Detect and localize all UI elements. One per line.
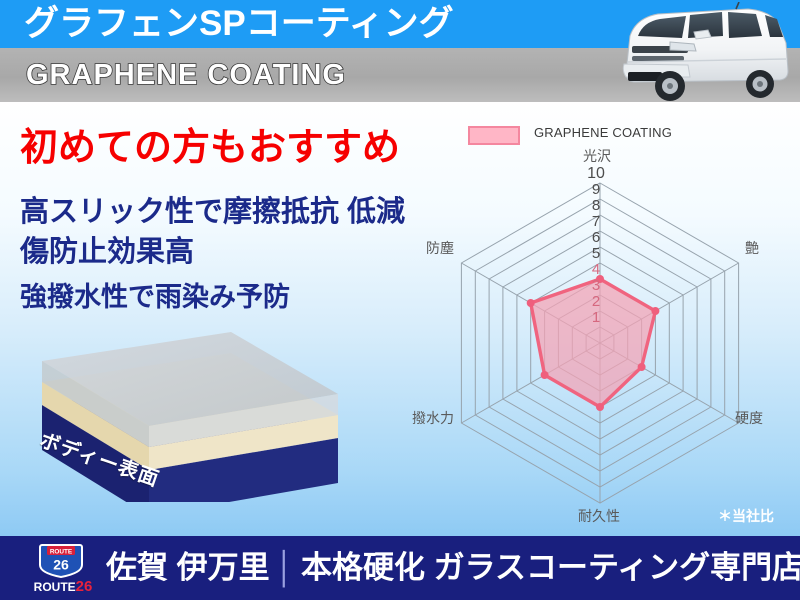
footer-service: 本格硬化 ガラスコーティング専門店 [301,550,800,585]
route-shield-icon: ROUTE 26 [38,543,84,579]
car-photo [608,2,800,110]
coating-layer-diagram: ボディー表面 [18,330,378,502]
tick-5: 5 [582,246,610,262]
radial-axis-ticks: 10 9 8 7 6 5 4 3 2 1 [582,166,610,326]
tick-4: 4 [582,262,610,278]
axis-label-luster: 艶 [745,238,759,258]
chart-footnote: ＊当社比 [718,506,774,526]
headline-text: 初めての方もおすすめ [20,116,400,171]
legend-swatch [468,126,520,145]
route26-wordmark: ROUTE26 [30,578,96,595]
axis-label-water-repellency: 撥水力 [412,408,454,428]
benefit-line-1: 高スリック性で摩擦抵抗 低減 傷防止効果高 [20,192,405,272]
radar-chart: GRAPHENE COATING [400,118,800,536]
axis-label-dustproof: 防塵 [426,238,454,258]
legend-label: GRAPHENE COATING [534,125,672,140]
axis-label-hardness: 硬度 [735,408,763,428]
footer-tagline: 佐賀 伊万里│本格硬化 ガラスコーティング専門店 [106,544,800,592]
footer-bar: ROUTE 26 ROUTE26 佐賀 伊万里│本格硬化 ガラスコーティング専門… [0,536,800,600]
benefit-line-2: 強撥水性で雨染み予防 [20,278,290,316]
tick-1: 1 [582,310,610,326]
page-title-english: GRAPHENE COATING [26,56,346,94]
footer-separator: │ [270,550,301,585]
chart-legend: GRAPHENE COATING [468,124,758,148]
benefit-line-1a: 高スリック性で摩擦抵抗 低減 [20,192,405,232]
axis-label-durability: 耐久性 [578,506,620,526]
tick-10: 10 [582,166,610,182]
svg-text:ROUTE: ROUTE [50,548,73,555]
tick-9: 9 [582,182,610,198]
tick-6: 6 [582,230,610,246]
tick-7: 7 [582,214,610,230]
tick-8: 8 [582,198,610,214]
benefit-line-1b: 傷防止効果高 [20,232,405,272]
tick-3: 3 [582,278,610,294]
svg-text:26: 26 [53,557,69,573]
poster-canvas: グラフェンSPコーティング GRAPHENE COATING [0,0,800,600]
route26-wordmark-route: ROUTE [34,580,76,594]
tick-2: 2 [582,294,610,310]
axis-label-gloss: 光沢 [583,146,611,166]
page-title-japanese: グラフェンSPコーティング [24,2,454,46]
route26-wordmark-number: 26 [76,578,93,595]
footer-location: 佐賀 伊万里 [106,550,270,585]
route26-logo[interactable]: ROUTE 26 ROUTE26 [30,542,96,594]
